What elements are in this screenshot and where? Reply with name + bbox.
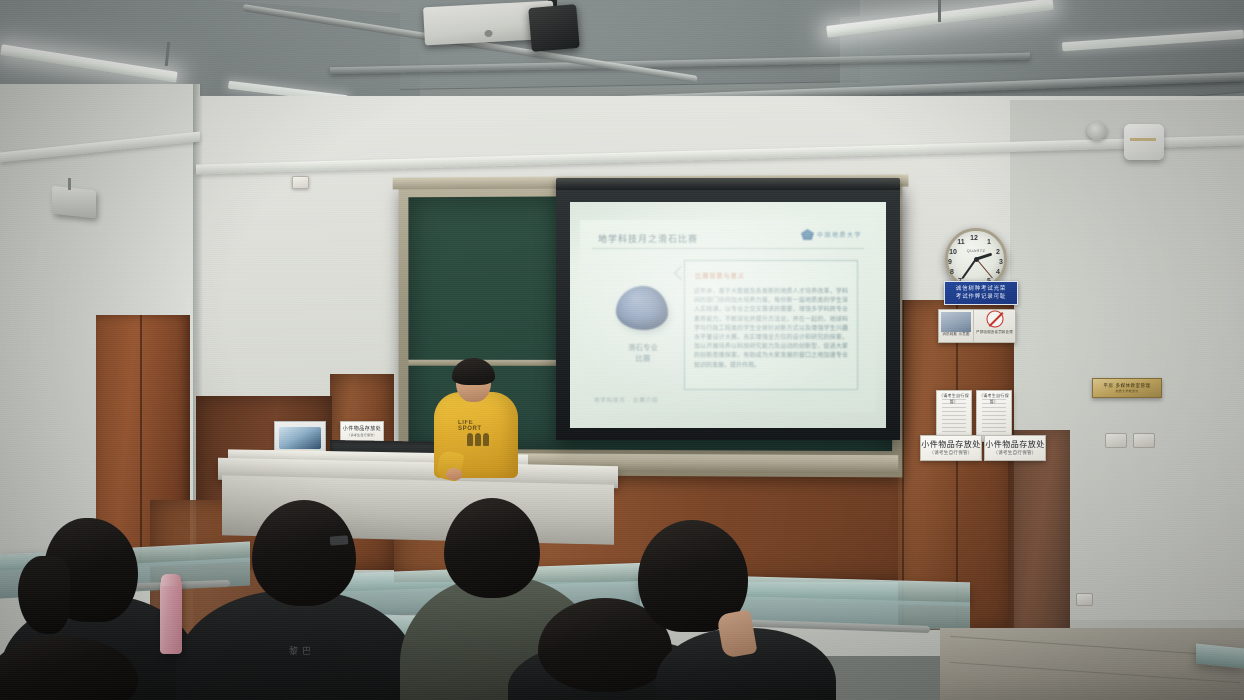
exam-sign-line-2: 考试作弊记录可耻 xyxy=(956,293,1006,301)
wall-outlet-right-3[interactable] xyxy=(1076,593,1093,606)
wall-outlet-right[interactable] xyxy=(1105,433,1127,448)
hoodie-graphic-text: 巴黎 xyxy=(286,646,312,656)
no-smoking-icon xyxy=(986,311,1003,328)
clock-num-12: 12 xyxy=(969,234,979,243)
evacuation-notice-caption: 消防疏散 示意图 xyxy=(941,332,971,337)
storage-sign-right-title: 小件物品存放处 xyxy=(985,439,1045,450)
paper-notice-left-lines xyxy=(942,399,966,437)
clock-num-8: 8 xyxy=(947,268,957,277)
clock-num-4: 4 xyxy=(993,268,1003,277)
wall-access-point xyxy=(1124,124,1164,160)
storage-sign-left-sub: （请考生自行保管） xyxy=(929,450,972,457)
slide-university-logo: 中国地质大学 xyxy=(801,229,862,240)
projector-lens-icon xyxy=(528,4,580,52)
mineral-specimen-image xyxy=(616,286,668,330)
presenter-shirt-graphic: LIFE SPORT xyxy=(458,420,498,460)
light-hanger-right xyxy=(938,0,941,22)
callout-heading: 比赛背景与意义 xyxy=(695,270,745,280)
evacuation-notice: 消防疏散 示意图 xyxy=(939,310,973,342)
shirt-text: LIFE SPORT xyxy=(458,420,498,432)
storage-sign-right: 小件物品存放处 （请考生自行保管） xyxy=(984,435,1046,461)
clock-center-pin xyxy=(974,257,979,262)
storage-sign-left-title: 小件物品存放处 xyxy=(921,439,981,450)
clock-num-2: 2 xyxy=(993,248,1003,257)
clock-brand: QUARTZ xyxy=(967,248,986,253)
slide-title: 地学科技月之滑石比赛 xyxy=(598,232,698,245)
display-box-artwork xyxy=(279,427,321,449)
storage-sign-wall-left-title: 小件物品存放处 xyxy=(343,426,382,433)
clock-num-10: 10 xyxy=(948,248,958,257)
university-shield-icon xyxy=(801,229,814,240)
exam-sign-line-1: 诚信树种考试光荣 xyxy=(956,285,1006,293)
slide-logo-text: 中国地质大学 xyxy=(817,230,862,239)
brass-room-plaque: 平房 多媒体教室管理 地质大学教务处 xyxy=(1092,378,1162,398)
clock-num-1: 1 xyxy=(984,238,994,247)
presentation-slide: 地学科技月之滑石比赛 中国地质大学 滑石专业 比赛 比赛背景与意义 近年来，基于… xyxy=(580,220,876,412)
exam-integrity-sign: 诚信树种考试光荣 考试作弊记录可耻 xyxy=(944,281,1018,305)
storage-sign-left: 小件物品存放处 （请考生自行保管） xyxy=(920,435,982,461)
storage-sign-wall-left-sub: （请考生自行保管） xyxy=(347,433,377,438)
callout-body-text: 近年来，基于大数据及各类新的地质人才培养改革，学科间的部门协同加大培养力度，每份… xyxy=(694,287,848,370)
speaker-bracket xyxy=(68,178,71,190)
light-switch-plate-left[interactable] xyxy=(292,176,309,189)
wall-notice-pair: 消防疏散 示意图 严禁吸烟违者罚款处理 xyxy=(938,309,1016,343)
wood-seam-2 xyxy=(956,300,958,630)
floor xyxy=(940,628,1244,700)
projection-screen: 地学科技月之滑石比赛 中国地质大学 滑石专业 比赛 比赛背景与意义 近年来，基于… xyxy=(556,190,900,440)
clock-num-11: 11 xyxy=(956,238,966,247)
mineral-caption-line2: 比赛 xyxy=(610,353,676,364)
clock-num-9: 9 xyxy=(945,258,955,267)
evacuation-map-image xyxy=(941,312,971,332)
mineral-caption: 滑石专业 比赛 xyxy=(610,342,676,364)
clock-second-hand xyxy=(976,259,993,279)
storage-sign-right-sub: （请考生自行保管） xyxy=(993,450,1036,457)
thermos-cap xyxy=(161,574,181,586)
slide-title-rule xyxy=(592,248,864,249)
wall-speaker xyxy=(52,186,96,219)
brass-plaque-line2: 地质大学教务处 xyxy=(1115,389,1138,393)
wall-outlet-right-2[interactable] xyxy=(1133,433,1155,448)
presenter-hand xyxy=(446,468,462,480)
clock-num-3: 3 xyxy=(996,258,1006,267)
mineral-caption-line1: 滑石专业 xyxy=(610,342,676,353)
no-smoking-caption: 严禁吸烟违者罚款处理 xyxy=(976,330,1013,335)
smoke-detector-icon xyxy=(1087,122,1107,140)
shirt-figure-group xyxy=(467,433,489,446)
pink-thermos-bottle xyxy=(160,578,182,654)
paper-notice-right-lines xyxy=(982,399,1006,437)
slide-callout-box: 比赛背景与意义 近年来，基于大数据及各类新的地质人才培养改革，学科间的部门协同加… xyxy=(684,260,858,390)
projection-screen-surface: 地学科技月之滑石比赛 中国地质大学 滑石专业 比赛 比赛背景与意义 近年来，基于… xyxy=(570,202,886,428)
slide-footer: 地学科技月 · 比赛介绍 xyxy=(594,396,658,404)
classroom-photo-scene: 地学科技月之滑石比赛 中国地质大学 滑石专业 比赛 比赛背景与意义 近年来，基于… xyxy=(0,0,1244,700)
wood-wainscot-far-right xyxy=(1008,430,1070,640)
clock-minute-hand xyxy=(961,258,976,279)
no-smoking-notice: 严禁吸烟违者罚款处理 xyxy=(973,310,1015,342)
